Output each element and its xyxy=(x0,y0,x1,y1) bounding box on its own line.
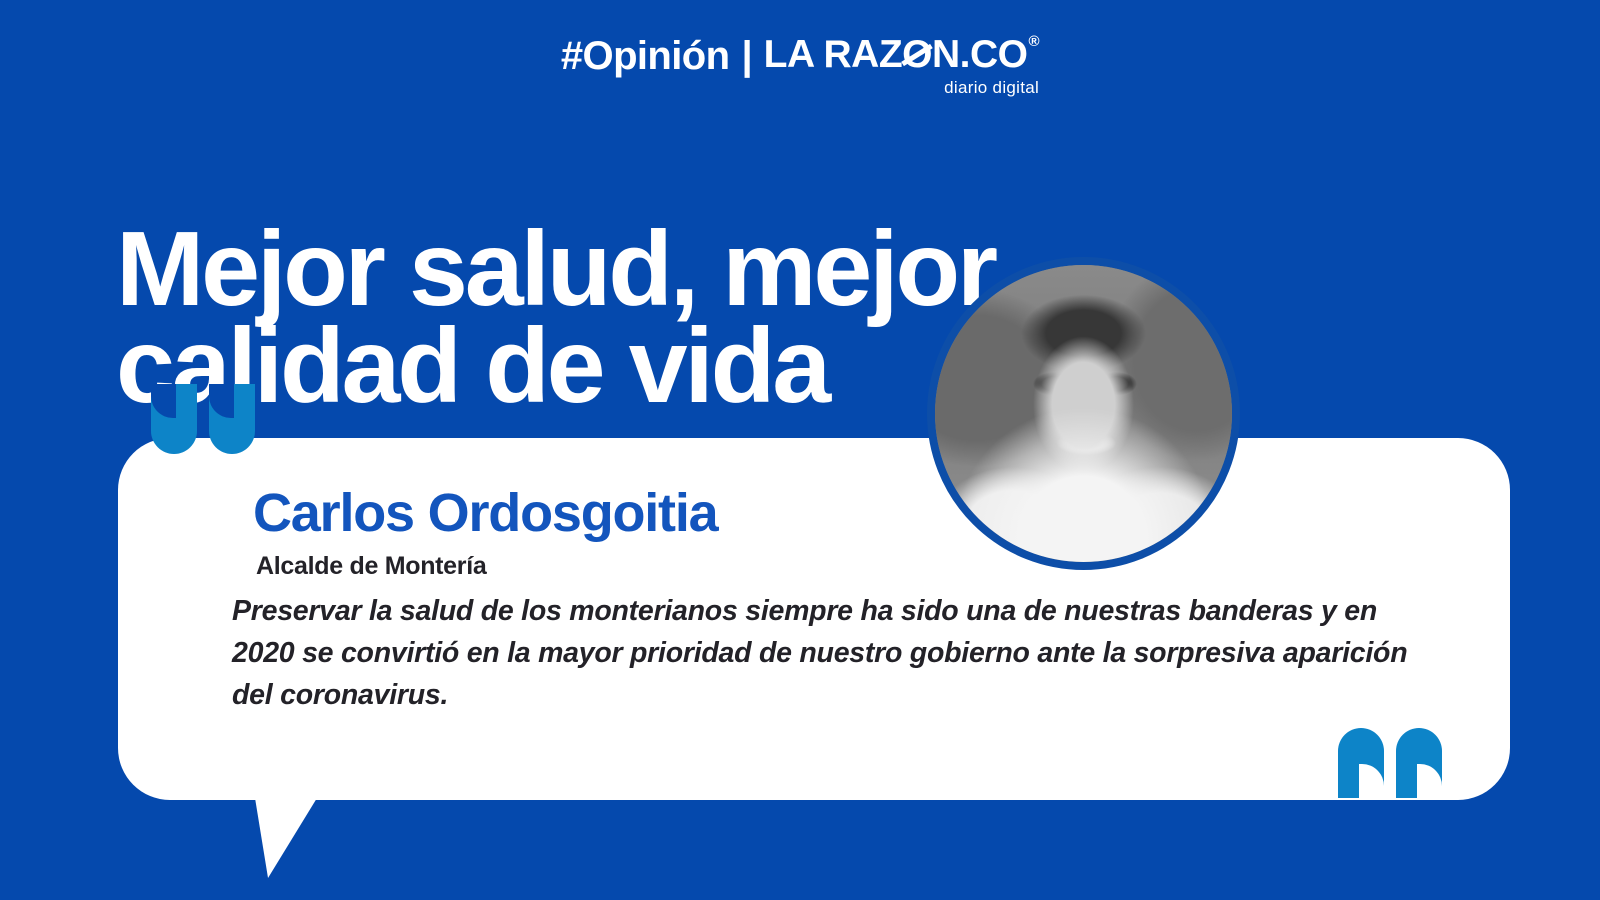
logo-slashed-o-icon: O xyxy=(902,33,932,77)
header-inner: #Opinión | LA RAZ O N.CO ® diario digita… xyxy=(561,32,1039,80)
registered-trademark-icon: ® xyxy=(1029,34,1040,49)
logo-wordmark: LA RAZ O N.CO ® xyxy=(764,33,1039,77)
logo-part-2: N.CO xyxy=(932,33,1028,77)
header-divider: | xyxy=(729,32,763,80)
quote-text: Preservar la salud de los monterianos si… xyxy=(232,590,1422,716)
close-quote-icon xyxy=(1338,728,1442,798)
la-razon-logo[interactable]: LA RAZ O N.CO ® diario digital xyxy=(764,32,1039,77)
quote-card-tail xyxy=(255,798,317,878)
close-quote-mark-left xyxy=(1396,728,1442,798)
speaker-name: Carlos Ordosgoitia xyxy=(253,482,717,544)
speaker-role: Alcalde de Montería xyxy=(256,551,486,581)
open-quote-icon xyxy=(151,384,255,454)
open-quote-mark-left xyxy=(151,384,197,454)
opinion-hashtag: #Opinión xyxy=(561,32,730,80)
portrait-photo xyxy=(935,265,1232,562)
opinion-quote-card-graphic: #Opinión | LA RAZ O N.CO ® diario digita… xyxy=(0,0,1600,900)
logo-tagline: diario digital xyxy=(944,78,1039,98)
avatar xyxy=(927,257,1240,570)
logo-part-1: LA RAZ xyxy=(764,33,903,77)
open-quote-mark-right xyxy=(209,384,255,454)
close-quote-mark-right xyxy=(1338,728,1384,798)
header: #Opinión | LA RAZ O N.CO ® diario digita… xyxy=(0,32,1600,80)
